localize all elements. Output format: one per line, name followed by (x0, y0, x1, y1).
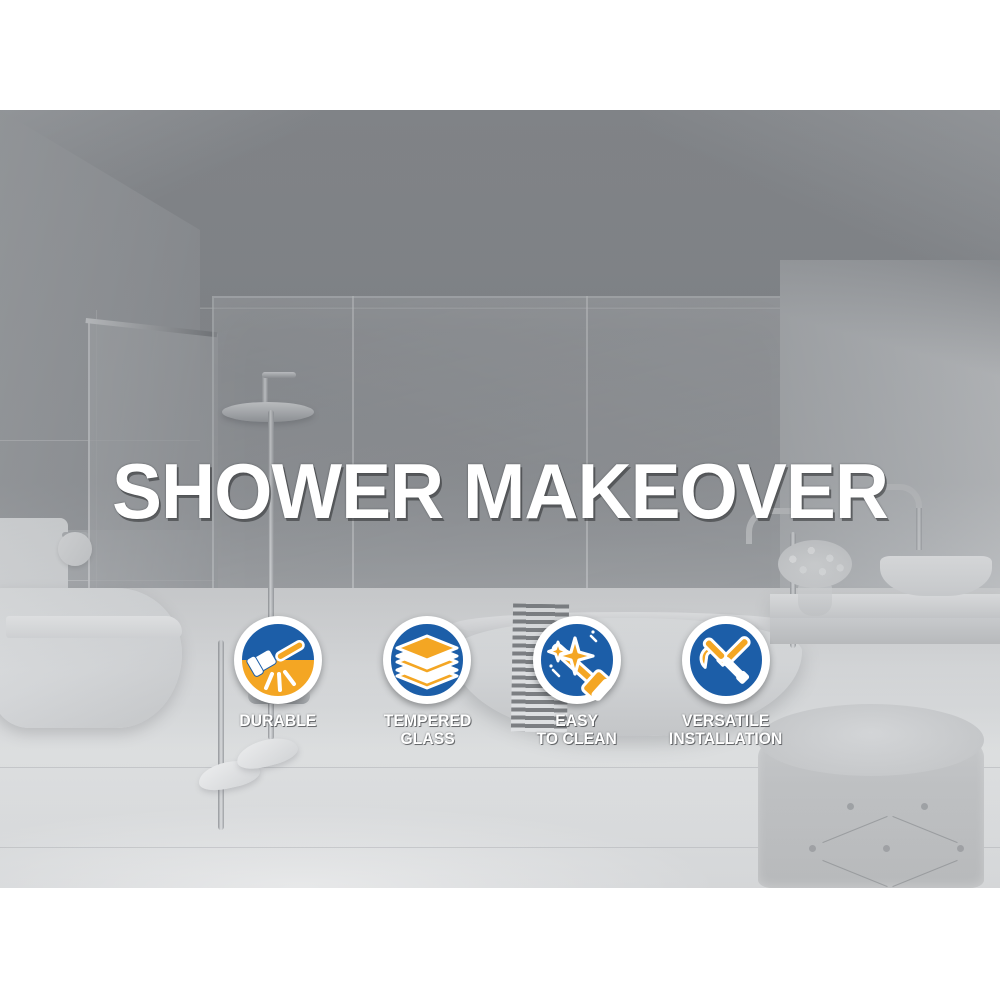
ottoman-tuft (921, 803, 928, 810)
toilet-lid (6, 616, 182, 638)
feature-label: VERSATILE INSTALLATION (669, 712, 782, 748)
feature-durable[interactable]: DURABLE (212, 616, 344, 730)
ottoman-tuft (957, 845, 964, 852)
page-title: SHOWER MAKEOVER (20, 452, 980, 530)
screwdriver-wrench-icon (682, 616, 770, 704)
glass-layers-icon (383, 616, 471, 704)
mirror-wall-shadow (780, 260, 1000, 410)
durable-badge[interactable] (234, 616, 322, 704)
tempered-glass-badge[interactable] (383, 616, 471, 704)
shower-arm-horizontal (262, 372, 296, 378)
hammer-impact-icon (234, 616, 322, 704)
flower-vase (798, 584, 832, 616)
feature-easy-to-clean[interactable]: EASY TO CLEAN (511, 616, 643, 748)
sparkle-squeegee-icon (533, 616, 621, 704)
ottoman-tuft (847, 803, 854, 810)
feature-label: DURABLE (239, 712, 316, 730)
white-flowers (778, 540, 852, 588)
ottoman-tuft (809, 845, 816, 852)
ottoman-tuft (883, 845, 890, 852)
toilet-paper-roll (58, 532, 92, 566)
toilet-bowl (0, 588, 182, 728)
product-banner: SHOWER MAKEOVER (0, 0, 1000, 1000)
versatile-installation-badge[interactable] (682, 616, 770, 704)
easy-to-clean-badge[interactable] (533, 616, 621, 704)
feature-label: TEMPERED GLASS (383, 712, 471, 748)
feature-tempered-glass[interactable]: TEMPERED GLASS (361, 616, 493, 748)
feature-versatile-installation[interactable]: VERSATILE INSTALLATION (660, 616, 792, 748)
floating-vanity-apron (770, 618, 1000, 644)
feature-label: EASY TO CLEAN (536, 712, 616, 748)
feature-badge-row: DURABLE TEMPERED GLASS (212, 616, 792, 748)
